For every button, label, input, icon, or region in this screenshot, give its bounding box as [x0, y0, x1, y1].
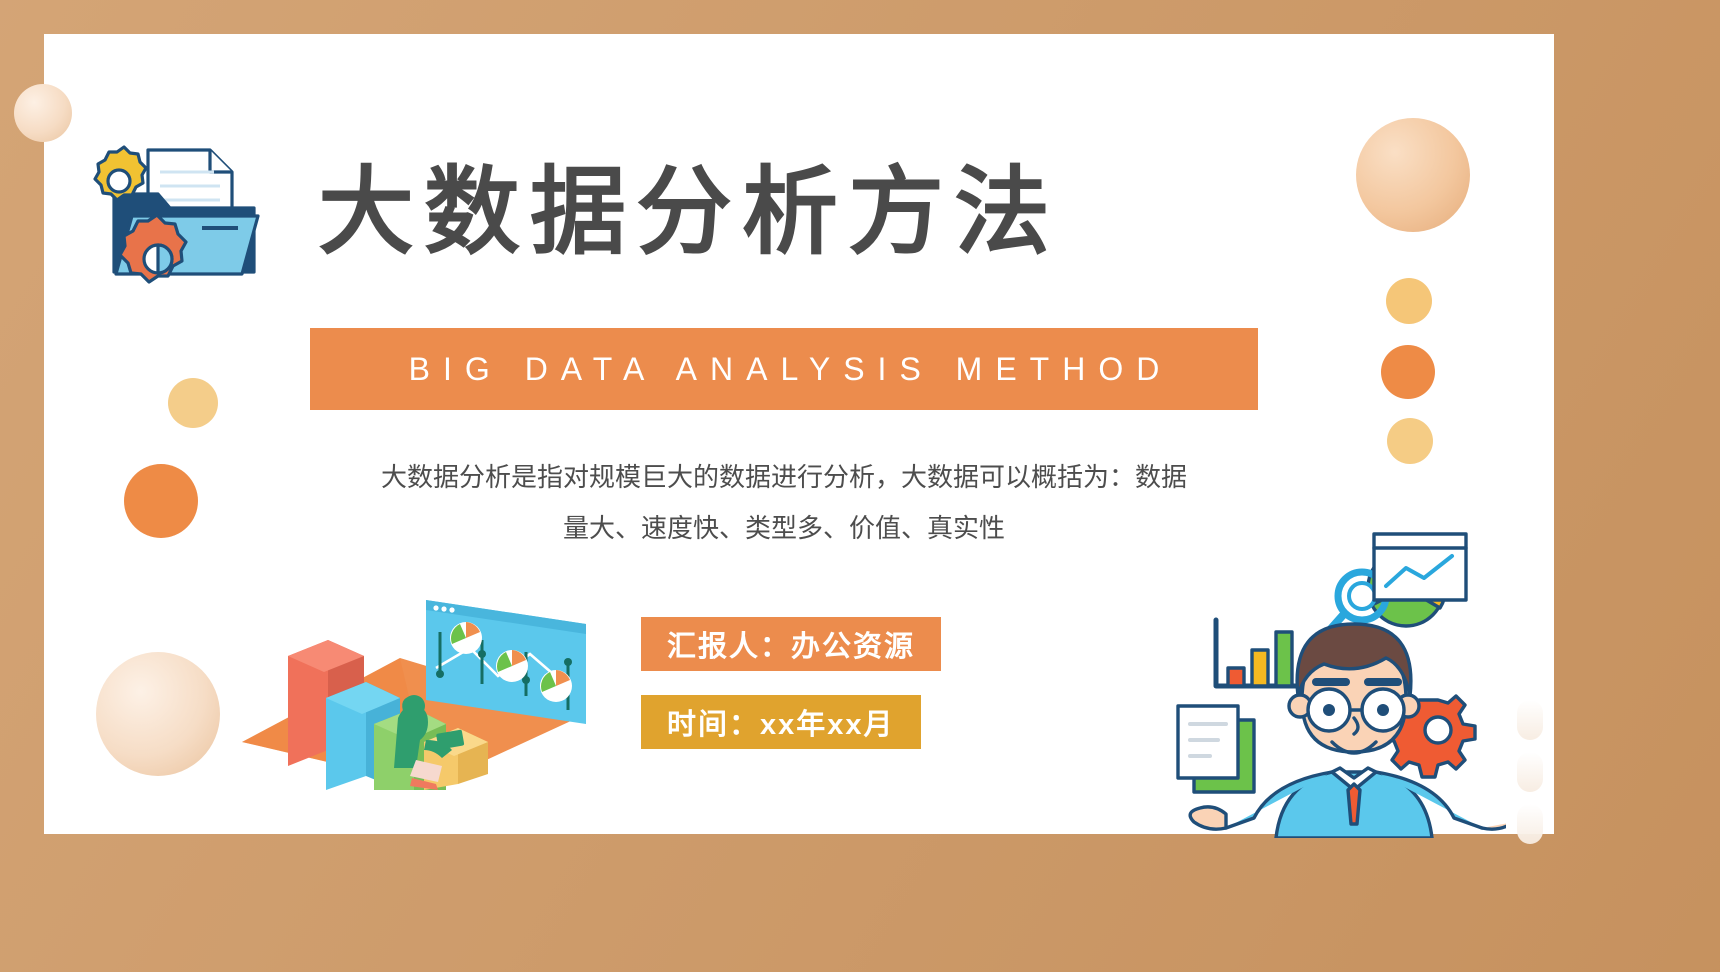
- decor-circle-orange-2: [124, 464, 198, 538]
- description-block: 大数据分析是指对规模巨大的数据进行分析，大数据可以概括为：数据 量大、速度快、类…: [300, 452, 1268, 553]
- subtitle-text: BIG DATA ANALYSIS METHOD: [396, 351, 1173, 388]
- decor-circle-orange-1: [1381, 345, 1435, 399]
- decor-pill-1: [1517, 700, 1543, 740]
- reporter-label: 汇报人：办公资源: [641, 617, 941, 671]
- decor-circle-right-large: [1356, 118, 1470, 232]
- businessman-data-analyst-illustration: [1086, 520, 1506, 838]
- decor-circle-soft-gradient: [96, 652, 220, 776]
- decor-circle-yellow-2: [1387, 418, 1433, 464]
- page-title: 大数据分析方法: [318, 160, 1268, 266]
- isometric-data-dashboard-illustration: [230, 528, 598, 790]
- description-line-2: 量大、速度快、类型多、价值、真实性: [300, 503, 1268, 554]
- decor-pill-3: [1517, 804, 1543, 844]
- decor-circle-yellow-1: [1386, 278, 1432, 324]
- description-line-1: 大数据分析是指对规模巨大的数据进行分析，大数据可以概括为：数据: [381, 462, 1187, 492]
- slide-root: 大数据分析方法 BIG DATA ANALYSIS METHOD 大数据分析是指…: [0, 0, 1720, 972]
- decor-pill-2: [1517, 752, 1543, 792]
- subtitle-band: BIG DATA ANALYSIS METHOD: [310, 328, 1258, 410]
- folder-document-gears-icon: [62, 124, 298, 292]
- date-label: 时间：xx年xx月: [641, 695, 921, 749]
- decor-circle-yellow-3: [168, 378, 218, 428]
